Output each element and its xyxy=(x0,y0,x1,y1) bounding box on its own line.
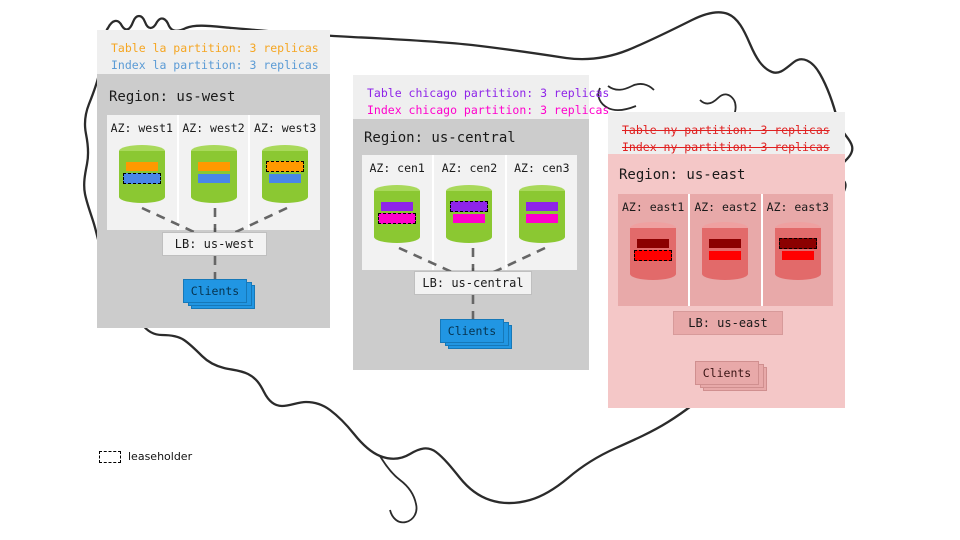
legend-label: leaseholder xyxy=(128,450,192,463)
leaseholder-swatch-icon xyxy=(99,451,121,463)
table-replica-bar xyxy=(198,162,230,171)
index-replica-bar xyxy=(198,174,230,183)
index-replica-bar xyxy=(782,251,814,260)
diagram-canvas: Table la partition: 3 replicas Index la … xyxy=(0,0,960,540)
table-replica-bar xyxy=(637,239,669,248)
table-replica-bar-leaseholder xyxy=(450,201,488,212)
replica-cylinder-east2[interactable] xyxy=(702,222,748,280)
lb-us-west[interactable]: LB: us-west xyxy=(162,232,267,256)
az-east2-label: AZ: east2 xyxy=(690,200,760,214)
table-replica-bar xyxy=(526,202,558,211)
table-replica-bar xyxy=(381,202,413,211)
us-central-table-line: Table chicago partition: 3 replicas xyxy=(367,85,575,102)
index-replica-bar-leaseholder xyxy=(634,250,672,261)
lb-us-east[interactable]: LB: us-east xyxy=(673,311,783,335)
us-west-table-line: Table la partition: 3 replicas xyxy=(111,40,316,57)
az-cen3-label: AZ: cen3 xyxy=(507,161,577,175)
clients-label: Clients xyxy=(695,361,759,385)
index-replica-bar-leaseholder xyxy=(378,213,416,224)
cylinder-bottom xyxy=(702,268,748,280)
index-replica-bar xyxy=(269,174,301,183)
cylinder-bottom xyxy=(630,268,676,280)
az-east3-label: AZ: east3 xyxy=(763,200,833,214)
cylinder-bottom xyxy=(775,268,821,280)
index-replica-bar xyxy=(526,214,558,223)
az-west2-label: AZ: west2 xyxy=(179,121,249,135)
clients-us-west[interactable]: Clients xyxy=(183,279,255,307)
us-central-header-box: Table chicago partition: 3 replicas Inde… xyxy=(353,75,589,119)
us-west-index-line: Index la partition: 3 replicas xyxy=(111,57,316,74)
az-east3[interactable]: AZ: east3 xyxy=(763,194,833,306)
region-us-east-title: Region: us-east xyxy=(619,167,745,183)
table-replica-bar-leaseholder xyxy=(266,161,304,172)
clients-us-east[interactable]: Clients xyxy=(695,361,767,389)
legend: leaseholder xyxy=(99,450,192,463)
az-east2[interactable]: AZ: east2 xyxy=(690,194,762,306)
az-cen2-label: AZ: cen2 xyxy=(434,161,504,175)
index-replica-bar xyxy=(709,251,741,260)
lb-us-central[interactable]: LB: us-central xyxy=(414,271,532,295)
table-replica-bar xyxy=(126,162,158,171)
az-east1-label: AZ: east1 xyxy=(618,200,688,214)
table-replica-bar xyxy=(709,239,741,248)
table-replica-bar-leaseholder xyxy=(779,238,817,249)
region-us-west-title: Region: us-west xyxy=(109,89,235,105)
us-east-az-strip: AZ: east1 AZ: east2 AZ: east3 xyxy=(618,194,833,306)
index-replica-bar xyxy=(453,214,485,223)
clients-label: Clients xyxy=(440,319,504,343)
region-us-central-title: Region: us-central xyxy=(364,130,516,146)
us-central-index-line: Index chicago partition: 3 replicas xyxy=(367,102,575,119)
az-east1[interactable]: AZ: east1 xyxy=(618,194,690,306)
us-west-header-box: Table la partition: 3 replicas Index la … xyxy=(97,30,330,74)
us-central-lb-client-connector xyxy=(458,295,488,321)
az-west1-label: AZ: west1 xyxy=(107,121,177,135)
az-west3-label: AZ: west3 xyxy=(250,121,320,135)
us-east-header-box: Table ny partition: 3 replicas Index ny … xyxy=(608,112,845,154)
us-east-table-line: Table ny partition: 3 replicas xyxy=(622,122,831,139)
replica-cylinder-east1[interactable] xyxy=(630,222,676,280)
az-cen1-label: AZ: cen1 xyxy=(362,161,432,175)
index-replica-bar-leaseholder xyxy=(123,173,161,184)
clients-label: Clients xyxy=(183,279,247,303)
replica-cylinder-east3[interactable] xyxy=(775,222,821,280)
clients-us-central[interactable]: Clients xyxy=(440,319,512,347)
